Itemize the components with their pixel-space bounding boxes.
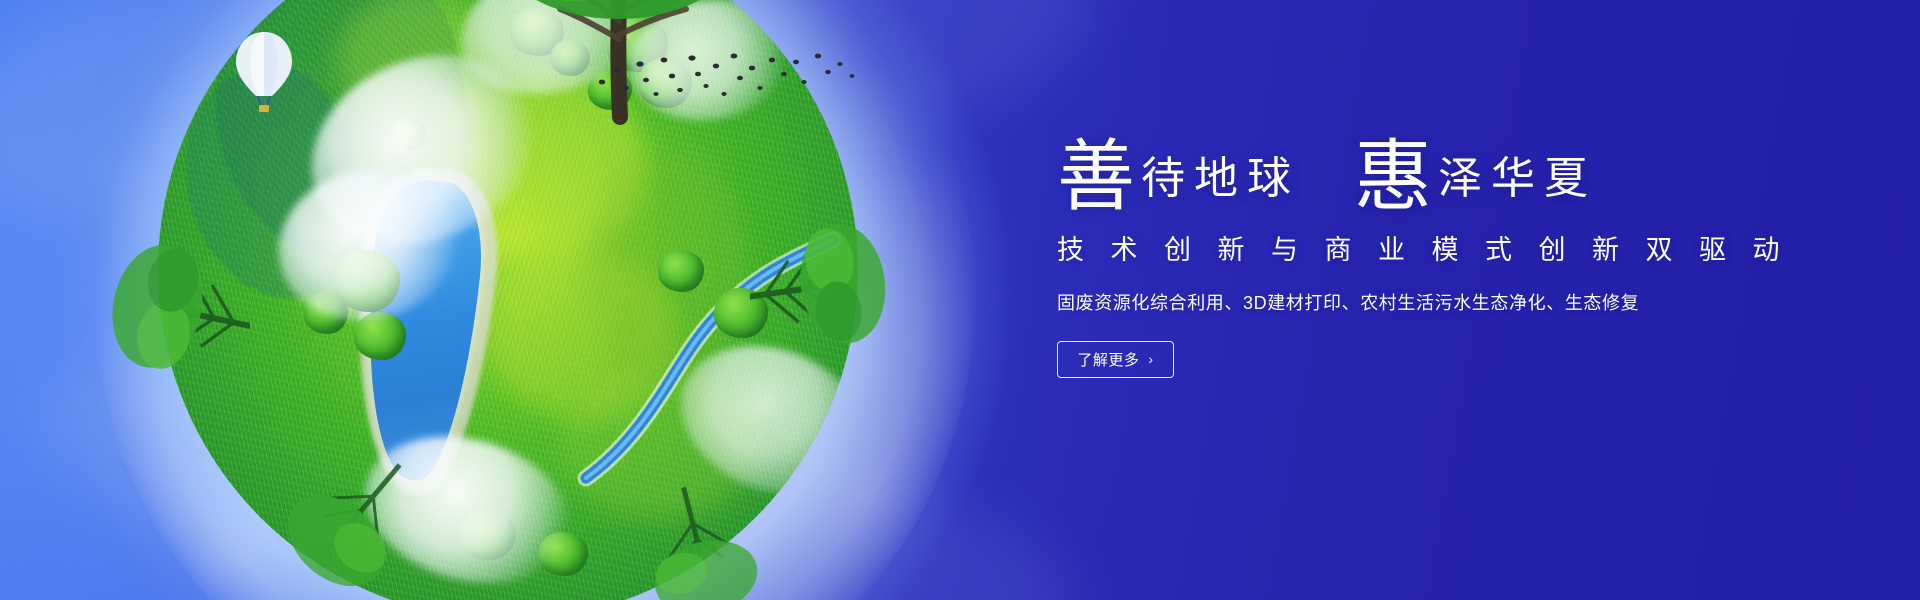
- hero-text-block: 善 待地球 惠 泽华夏 技 术 创 新 与 商 业 模 式 创 新 双 驱 动 …: [1057, 128, 1817, 378]
- headline-rest-second: 泽华夏: [1438, 157, 1597, 201]
- headline-rest-first: 待地球: [1141, 157, 1300, 201]
- hero-banner: 善 待地球 惠 泽华夏 技 术 创 新 与 商 业 模 式 创 新 双 驱 动 …: [0, 0, 1920, 600]
- page-title: 善 待地球 惠 泽华夏: [1057, 128, 1817, 206]
- chevron-right-icon: ›: [1148, 352, 1153, 366]
- headline-accent-second: 惠: [1354, 138, 1432, 216]
- rim-tree: [750, 196, 900, 376]
- bird-flock: [588, 40, 868, 110]
- learn-more-button[interactable]: 了解更多 ›: [1057, 341, 1174, 378]
- headline-accent-first: 善: [1057, 138, 1135, 216]
- learn-more-label: 了解更多: [1077, 349, 1139, 370]
- rim-tree: [270, 440, 420, 600]
- rim-tree: [628, 480, 778, 600]
- page-description: 固废资源化综合利用、3D建材打印、农村生活污水生态净化、生态修复: [1057, 289, 1817, 315]
- page-subtitle: 技 术 创 新 与 商 业 模 式 创 新 双 驱 动: [1057, 228, 1817, 267]
- hot-air-balloon: [232, 26, 296, 118]
- tree-clump: [658, 250, 704, 292]
- rim-tree: [100, 220, 250, 400]
